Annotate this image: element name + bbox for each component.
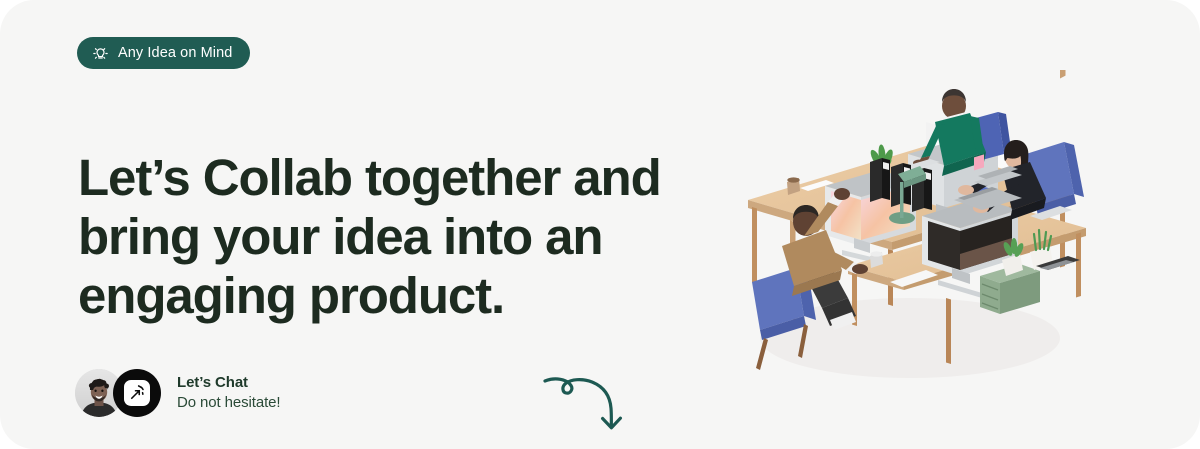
avatar-stack bbox=[75, 369, 167, 417]
badge-label: Any Idea on Mind bbox=[118, 46, 232, 61]
headline-line-1: Let’s Collab together and bbox=[78, 148, 678, 207]
hero-banner-card: Any Idea on Mind Let’s Collab together a… bbox=[0, 0, 1200, 449]
chat-title: Let’s Chat bbox=[177, 374, 280, 392]
lightbulb-idea-icon bbox=[92, 45, 109, 62]
logo-square bbox=[124, 380, 150, 406]
isometric-office-team-illustration bbox=[730, 70, 1090, 390]
any-idea-badge[interactable]: Any Idea on Mind bbox=[77, 37, 250, 69]
curved-looping-down-arrow-icon bbox=[540, 368, 660, 440]
chat-subtitle: Do not hesitate! bbox=[177, 394, 280, 412]
hero-headline: Let’s Collab together and bring your ide… bbox=[78, 148, 678, 325]
brand-mark-logo[interactable] bbox=[113, 369, 161, 417]
headline-line-2: bring your idea into an bbox=[78, 207, 678, 266]
chat-text-group: Let’s Chat Do not hesitate! bbox=[177, 374, 280, 412]
lets-chat-block[interactable]: Let’s Chat Do not hesitate! bbox=[75, 369, 280, 417]
headline-line-3: engaging product. bbox=[78, 266, 678, 325]
